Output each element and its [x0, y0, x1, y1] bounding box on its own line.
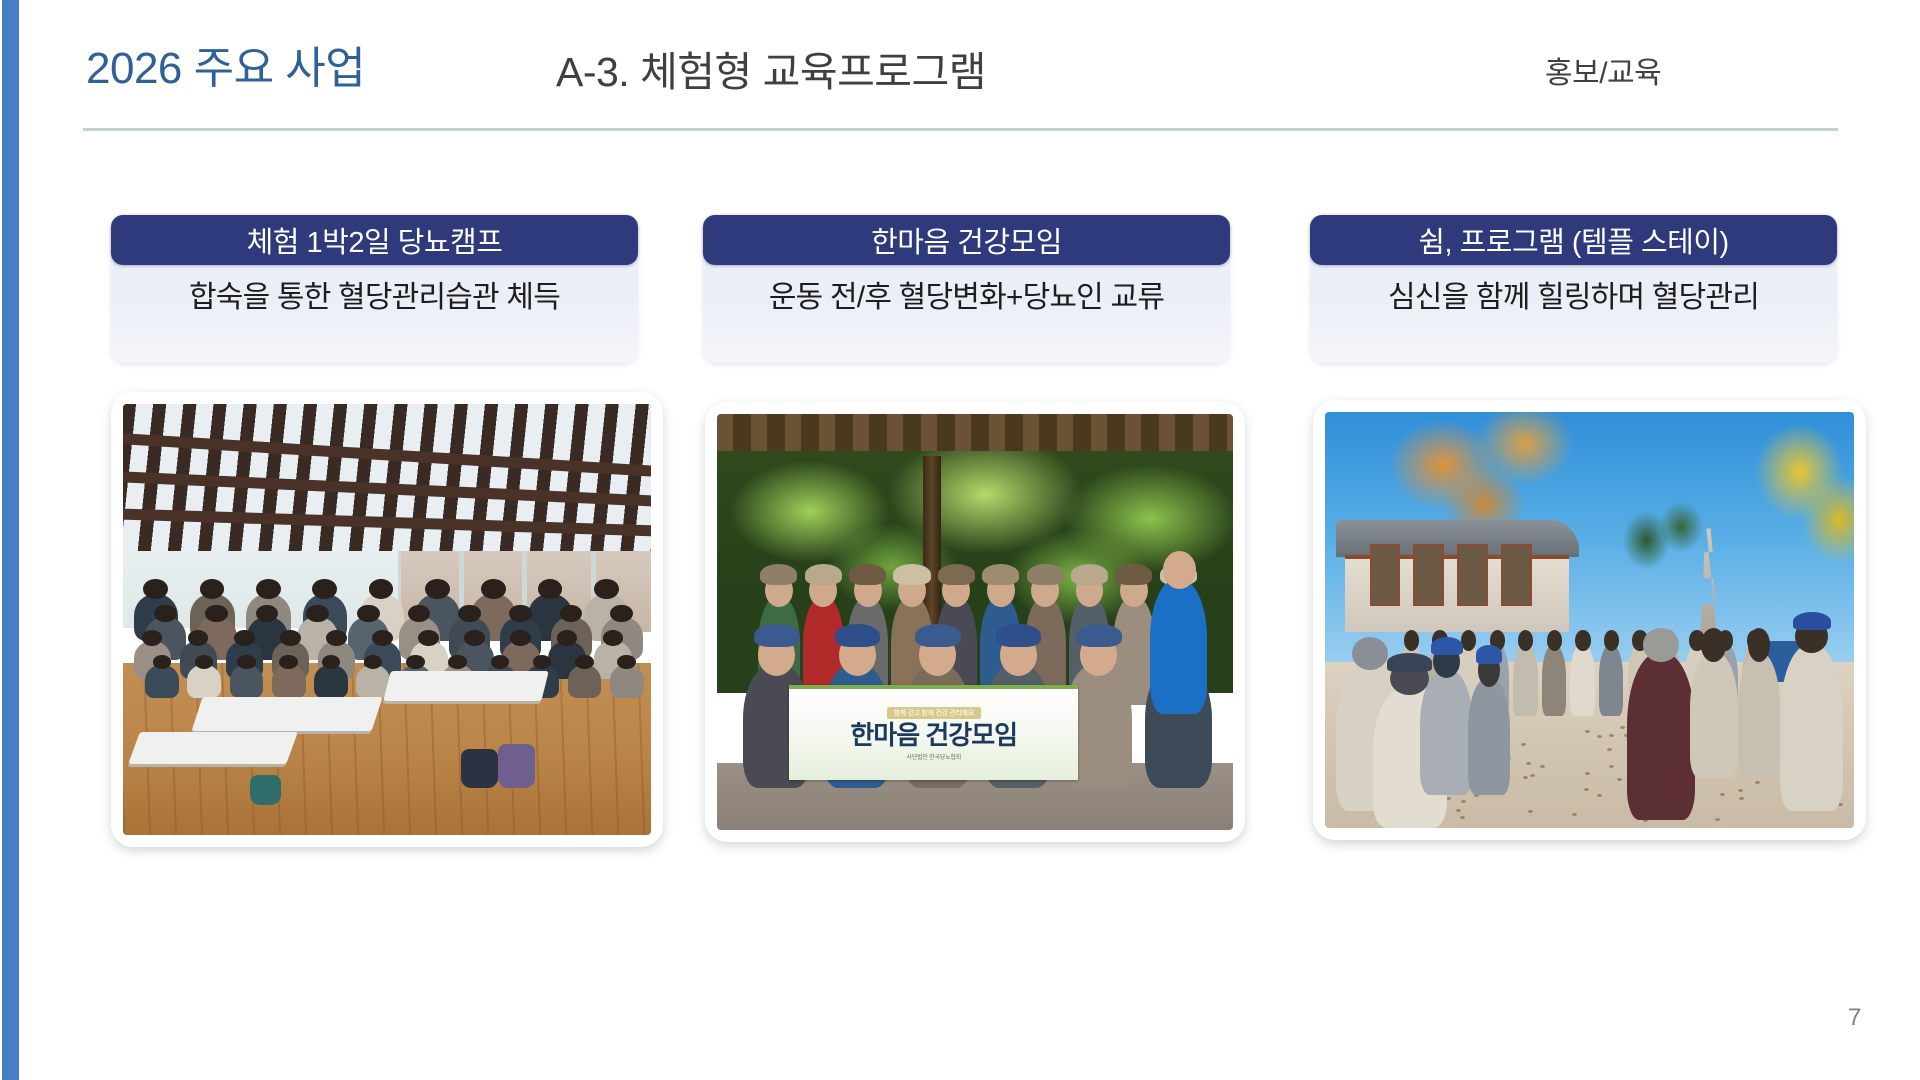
- person-head: [364, 655, 383, 669]
- banner-subtitle: 함께 걷고 함께 건강 관리해요: [887, 707, 981, 719]
- fallen-leaf: [1456, 809, 1461, 812]
- sun-hat: [1027, 564, 1064, 585]
- standing-person: [1570, 645, 1594, 716]
- fallen-leaf: [1738, 789, 1743, 792]
- indoor-lecture-hall-photo: [123, 404, 651, 835]
- header-divider: [83, 128, 1838, 131]
- person-head: [322, 655, 341, 669]
- person-head: [1701, 628, 1726, 661]
- table: [128, 732, 298, 764]
- person-head: [533, 655, 552, 669]
- blue-cap: [1387, 653, 1431, 672]
- fallen-leaf: [1460, 816, 1465, 819]
- person-head: [557, 630, 578, 646]
- temple-window: [1413, 544, 1444, 606]
- cap: [835, 624, 880, 647]
- fallen-leaf: [1755, 781, 1760, 784]
- person-head: [372, 630, 393, 646]
- person-head: [256, 579, 281, 599]
- pine-tree: [1600, 479, 1716, 612]
- person-head: [1352, 637, 1388, 670]
- sun-hat: [849, 564, 886, 585]
- temple-courtyard-photo: [1325, 412, 1854, 828]
- cap: [996, 624, 1041, 647]
- card-panel: 쉼, 프로그램 (템플 스테이) 심신을 함께 힐링하며 혈당관리: [1310, 215, 1837, 363]
- sun-hat: [1115, 564, 1152, 585]
- fallen-leaf: [1528, 810, 1533, 813]
- fallen-leaf: [1617, 778, 1622, 781]
- page-title-center: A-3. 체험형 교육프로그램: [556, 38, 986, 98]
- person-head: [306, 605, 329, 623]
- photo-frame-3[interactable]: [1313, 400, 1866, 840]
- card-description: 합숙을 통한 혈당관리습관 체득: [111, 265, 638, 323]
- program-card-2[interactable]: 한마음 건강모임 운동 전/후 혈당변화+당뇨인 교류: [703, 215, 1230, 363]
- person-head: [418, 630, 439, 646]
- seated-person: [568, 665, 602, 698]
- card-header-label: 체험 1박2일 당뇨캠프: [247, 219, 503, 261]
- seated-person: [610, 665, 644, 698]
- card-panel: 체험 1박2일 당뇨캠프 합숙을 통한 혈당관리습관 체득: [111, 215, 638, 363]
- temple-window: [1370, 544, 1401, 606]
- blue-cap: [1431, 637, 1463, 656]
- foreground-person: [1690, 653, 1738, 778]
- seated-person: [230, 665, 264, 698]
- photo-frame-1[interactable]: [111, 392, 663, 847]
- sun-hat: [1071, 564, 1108, 585]
- person-head: [617, 655, 636, 669]
- foreground-person: [1627, 653, 1696, 819]
- person-head: [188, 630, 209, 646]
- foreground-person: [1780, 645, 1843, 811]
- person-head: [464, 630, 485, 646]
- person-head: [1575, 630, 1590, 651]
- seated-person: [314, 665, 348, 698]
- card-header-bar: 체험 1박2일 당뇨캠프: [111, 215, 638, 265]
- person-head: [357, 605, 380, 623]
- seated-person: [187, 665, 221, 698]
- page-title-right: 홍보/교육: [1545, 48, 1661, 92]
- sun-hat: [938, 564, 975, 585]
- card-header-label: 한마음 건강모임: [871, 219, 1062, 261]
- fallen-leaf: [1609, 734, 1614, 737]
- fallen-leaf: [1446, 797, 1451, 800]
- group-photo-with-banner: 함께 걷고 함께 건강 관리해요 한마음 건강모임 사단법인 한국당뇨협회: [717, 414, 1233, 830]
- card-panel: 한마음 건강모임 운동 전/후 혈당변화+당뇨인 교류: [703, 215, 1230, 363]
- cap: [754, 624, 799, 647]
- page-number: 7: [1848, 1004, 1861, 1032]
- person-head: [575, 655, 594, 669]
- seated-person: [145, 665, 179, 698]
- card-description: 심신을 함께 힐링하며 혈당관리: [1310, 265, 1837, 323]
- fallen-leaf: [1607, 748, 1612, 751]
- temple-hall: [1336, 520, 1579, 628]
- blue-cap: [1793, 612, 1831, 631]
- card-description: 운동 전/후 혈당변화+당뇨인 교류: [703, 265, 1230, 323]
- fallen-leaf: [1461, 800, 1466, 803]
- person-head: [234, 630, 255, 646]
- person-head: [425, 579, 450, 599]
- standing-person: [1599, 645, 1623, 716]
- person-head: [509, 605, 532, 623]
- program-card-1[interactable]: 체험 1박2일 당뇨캠프 합숙을 통한 혈당관리습관 체득: [111, 215, 638, 363]
- backpack: [461, 749, 498, 788]
- banner-title: 한마음 건강모임: [850, 722, 1017, 748]
- temple-window: [1501, 544, 1532, 606]
- table: [191, 697, 382, 731]
- sun-hat: [805, 564, 842, 585]
- sun-hat: [893, 564, 930, 585]
- fallen-leaf: [1720, 793, 1725, 796]
- person-head: [1547, 630, 1562, 651]
- fallen-leaf: [1715, 818, 1720, 821]
- program-card-3[interactable]: 쉼, 프로그램 (템플 스테이) 심신을 함께 힐링하며 혈당관리: [1310, 215, 1837, 363]
- person-head: [279, 655, 298, 669]
- page-title-left: 2026 주요 사업: [86, 32, 365, 96]
- sun-hat: [982, 564, 1019, 585]
- person-head: [594, 579, 619, 599]
- cap: [1076, 624, 1121, 647]
- bag: [250, 775, 282, 805]
- slide-header: 2026 주요 사업 A-3. 체험형 교육프로그램 홍보/교육: [0, 0, 1920, 132]
- foreground-person: [1738, 653, 1780, 778]
- person-head: [510, 630, 531, 646]
- fallen-leaf: [1597, 794, 1602, 797]
- standing-person: [1542, 645, 1566, 716]
- person-head: [1748, 628, 1770, 661]
- person-head: [406, 655, 425, 669]
- banner-logo-text: 사단법인 한국당뇨협회: [906, 752, 961, 761]
- person-head: [154, 605, 177, 623]
- person-head: [142, 630, 163, 646]
- fallen-leaf: [1526, 762, 1531, 765]
- staff-blue-vest: [1150, 580, 1207, 713]
- card-header-label: 쉼, 프로그램 (템플 스테이): [1418, 219, 1728, 261]
- person-head: [195, 655, 214, 669]
- person-head: [603, 630, 624, 646]
- card-header-bar: 쉼, 프로그램 (템플 스테이): [1310, 215, 1837, 265]
- standing-person: [1513, 645, 1537, 716]
- person-head: [491, 655, 510, 669]
- fallen-leaf: [1585, 772, 1590, 775]
- person-head: [1163, 551, 1196, 588]
- blue-cap: [1476, 645, 1501, 664]
- temple-window: [1457, 544, 1488, 606]
- person-head: [237, 655, 256, 669]
- person-head: [280, 630, 301, 646]
- seated-person: [272, 665, 306, 698]
- photo-frame-2[interactable]: 함께 걷고 함께 건강 관리해요 한마음 건강모임 사단법인 한국당뇨협회: [705, 402, 1245, 842]
- foreground-person: [1468, 678, 1510, 794]
- cap: [915, 624, 960, 647]
- event-banner: 함께 걷고 함께 건강 관리해요 한마음 건강모임 사단법인 한국당뇨협회: [789, 685, 1078, 781]
- card-header-bar: 한마음 건강모임: [703, 215, 1230, 265]
- table: [383, 671, 549, 701]
- foreground-person: [1420, 670, 1473, 795]
- person-head: [205, 605, 228, 623]
- person-head: [153, 655, 172, 669]
- sun-hat: [760, 564, 797, 585]
- person-head: [1643, 628, 1679, 661]
- person-head: [326, 630, 347, 646]
- backpack: [498, 744, 535, 787]
- person-head: [448, 655, 467, 669]
- autumn-tree-yellow: [1695, 412, 1854, 603]
